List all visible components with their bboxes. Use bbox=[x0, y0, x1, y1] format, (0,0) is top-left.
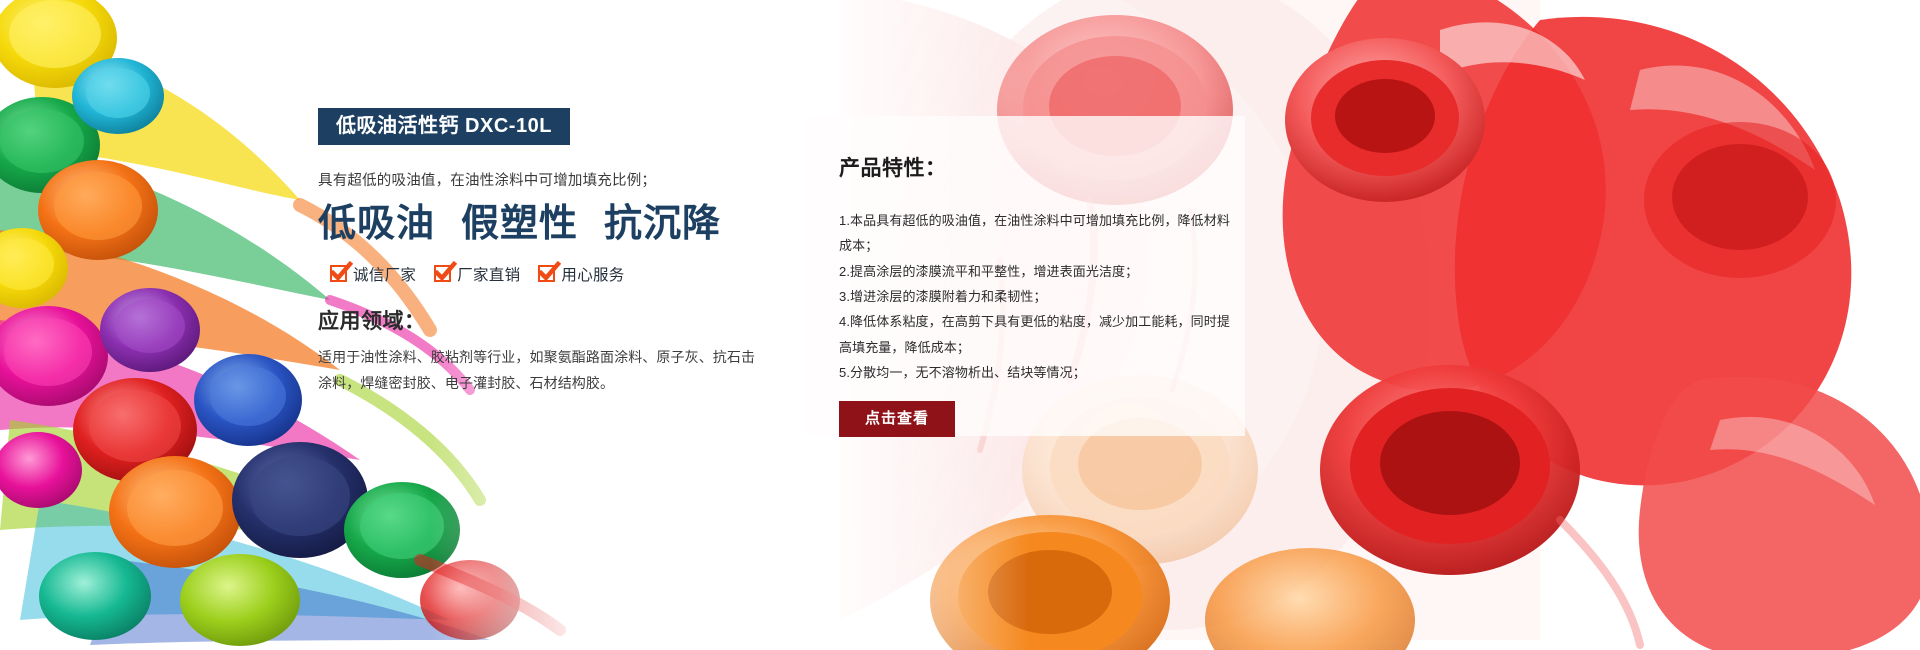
headline-word-1: 低吸油 bbox=[318, 203, 435, 247]
checkbox-checked-icon bbox=[434, 265, 451, 282]
features-panel-title: 产品特性： bbox=[839, 152, 1211, 182]
feature-line-5: 4.降低体系粘度，在高剪下具有更低的粘度，减少加工能耗，同时提 bbox=[839, 309, 1211, 334]
headline-keywords: 低吸油假塑性抗沉降 bbox=[318, 203, 748, 247]
product-name-tag: 低吸油活性钙 DXC-10L bbox=[318, 108, 570, 145]
feature-line-3: 2.提高涂层的漆膜流平和平整性，增进表面光洁度； bbox=[839, 259, 1211, 284]
trust-badge-2: 厂家直销 bbox=[434, 263, 520, 285]
headline-word-2: 假塑性 bbox=[461, 203, 578, 247]
application-line-2: 涂料，焊缝密封胶、电子灌封胶、石材结构胶。 bbox=[318, 371, 748, 397]
feature-line-7: 5.分散均一，无不溶物析出、结块等情况； bbox=[839, 360, 1211, 385]
application-section-title: 应用领域： bbox=[318, 305, 748, 335]
feature-line-2: 成本； bbox=[839, 233, 1211, 258]
product-lead-text: 具有超低的吸油值，在油性涂料中可增加填充比例； bbox=[318, 171, 748, 191]
feature-line-1: 1.本品具有超低的吸油值，在油性涂料中可增加填充比例，降低材料 bbox=[839, 208, 1211, 233]
product-hero-banner: 低吸油活性钙 DXC-10L 具有超低的吸油值，在油性涂料中可增加填充比例； 低… bbox=[0, 0, 1920, 650]
feature-line-4: 3.增进涂层的漆膜附着力和柔韧性； bbox=[839, 284, 1211, 309]
headline-word-3: 抗沉降 bbox=[604, 203, 721, 247]
application-line-1: 适用于油性涂料、胶粘剂等行业，如聚氨酯路面涂料、原子灰、抗石击 bbox=[318, 345, 748, 371]
features-list: 1.本品具有超低的吸油值，在油性涂料中可增加填充比例，降低材料 成本； 2.提高… bbox=[839, 208, 1211, 385]
product-features-panel: 产品特性： 1.本品具有超低的吸油值，在油性涂料中可增加填充比例，降低材料 成本… bbox=[805, 116, 1245, 436]
trust-badge-3: 用心服务 bbox=[538, 263, 624, 285]
application-section-body: 适用于油性涂料、胶粘剂等行业，如聚氨酯路面涂料、原子灰、抗石击 涂料，焊缝密封胶… bbox=[318, 345, 748, 397]
trust-badge-label: 用心服务 bbox=[561, 263, 624, 285]
hero-copy-block: 低吸油活性钙 DXC-10L 具有超低的吸油值，在油性涂料中可增加填充比例； 低… bbox=[318, 108, 748, 397]
checkbox-checked-icon bbox=[330, 265, 347, 282]
trust-badge-label: 厂家直销 bbox=[457, 263, 520, 285]
trust-badges: 诚信厂家 厂家直销 用心服务 bbox=[318, 263, 748, 285]
trust-badge-1: 诚信厂家 bbox=[330, 263, 416, 285]
view-details-button[interactable]: 点击查看 bbox=[839, 401, 955, 437]
feature-line-6: 高填充量，降低成本； bbox=[839, 335, 1211, 360]
checkbox-checked-icon bbox=[538, 265, 555, 282]
trust-badge-label: 诚信厂家 bbox=[353, 263, 416, 285]
